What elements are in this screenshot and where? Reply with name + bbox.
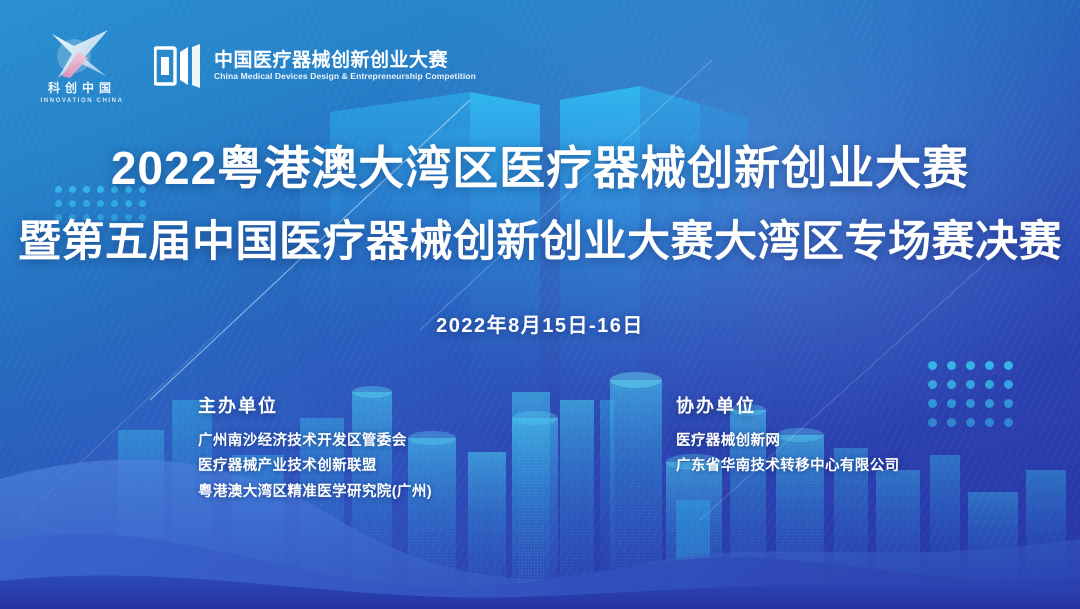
- bottom-wave-bands: [0, 419, 1080, 609]
- co-organizer-item: 广东省华南技术转移中心有限公司: [676, 454, 900, 479]
- host-organizer-heading: 主办单位: [198, 392, 432, 418]
- logo-competition-cn: 中国医疗器械创新创业大赛: [214, 50, 476, 72]
- host-organizer-item: 广州南沙经济技术开发区管委会: [198, 429, 432, 454]
- co-organizer-block: 协办单位 医疗器械创新网 广东省华南技术转移中心有限公司: [676, 392, 900, 480]
- page-title-line2: 暨第五届中国医疗器械创新创业大赛大湾区专场赛决赛: [0, 207, 1080, 269]
- innovation-china-mark: [44, 28, 120, 80]
- logo-innovation-china[interactable]: 科创中国 INNOVATION CHINA: [36, 28, 128, 104]
- header-logos: 科创中国 INNOVATION CHINA 中国医疗器械创新创业大赛 China…: [36, 28, 476, 104]
- logo-competition[interactable]: 中国医疗器械创新创业大赛 China Medical Devices Desig…: [154, 44, 476, 88]
- logo-innovation-china-en: INNOVATION CHINA: [36, 98, 128, 104]
- logo-competition-en: China Medical Devices Design & Entrepren…: [214, 71, 476, 82]
- co-organizer-heading: 协办单位: [676, 392, 900, 418]
- logo-innovation-china-cn: 科创中国: [36, 82, 128, 94]
- page-title-line1: 2022粤港澳大湾区医疗器械创新创业大赛: [0, 132, 1080, 198]
- host-organizer-block: 主办单位 广州南沙经济技术开发区管委会 医疗器械产业技术创新联盟 粤港澳大湾区精…: [198, 392, 432, 505]
- event-poster: 科创中国 INNOVATION CHINA 中国医疗器械创新创业大赛 China…: [0, 0, 1080, 609]
- host-organizer-item: 粤港澳大湾区精准医学研究院(广州): [198, 480, 432, 505]
- host-organizer-item: 医疗器械产业技术创新联盟: [198, 454, 432, 479]
- open-door-window-mark: [154, 44, 202, 88]
- event-date: 2022年8月15日-16日: [0, 309, 1080, 338]
- co-organizer-item: 医疗器械创新网: [676, 429, 900, 454]
